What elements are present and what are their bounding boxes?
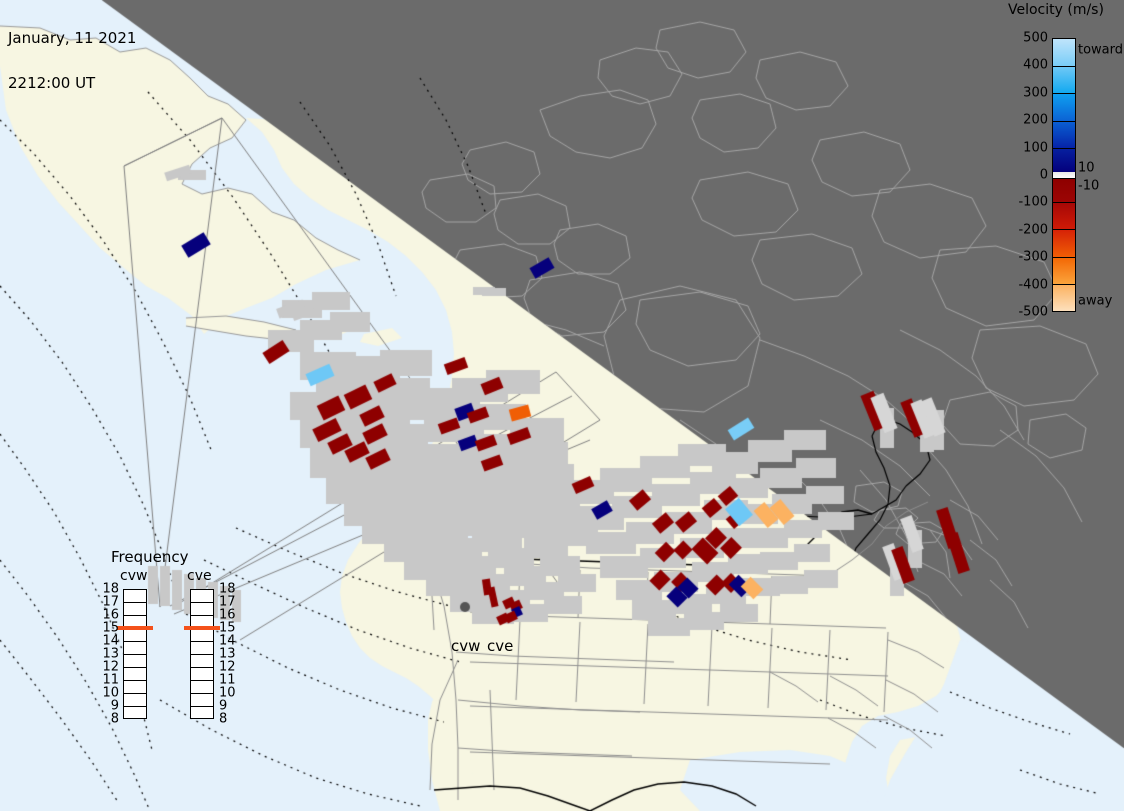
frequency-marker-cve (184, 626, 220, 630)
frequency-box-cvw (123, 589, 147, 719)
frequency-segment (124, 668, 146, 681)
colorbar-tick-label: -400 (1002, 277, 1048, 292)
frequency-segment (124, 642, 146, 655)
colorbar-tick-label: -300 (1002, 250, 1048, 265)
frequency-segment (191, 668, 213, 681)
frequency-segment (124, 694, 146, 707)
colorbar-band (1053, 66, 1075, 93)
frequency-box-cve (190, 589, 214, 719)
frequency-segment (124, 629, 146, 642)
radar-site-label-cve: cve (487, 637, 513, 655)
frequency-segment (124, 603, 146, 616)
frequency-legend: Frequency cvw18171615141312111098cve1817… (95, 548, 255, 783)
title-date: January, 11 2021 (8, 31, 136, 46)
frequency-column-title-cvw: cvw (120, 568, 147, 584)
colorbar-gradient (1052, 38, 1076, 312)
colorbar-band (1053, 39, 1075, 66)
frequency-segment (191, 590, 213, 603)
colorbar-tick-label: 400 (1002, 58, 1048, 73)
frequency-segment (191, 603, 213, 616)
colorbar-tick-label: 0 (1002, 168, 1048, 183)
superdarn-velocity-map: January, 11 2021 2212:00 UT Velocity (m/… (0, 0, 1124, 811)
frequency-segment (124, 655, 146, 668)
colorbar-band (1053, 93, 1075, 120)
colorbar-tick-label: 200 (1002, 113, 1048, 128)
title-time: 2212:00 UT (8, 76, 136, 91)
frequency-legend-title: Frequency (111, 548, 189, 566)
colorbar-title: Velocity (m/s) (1008, 2, 1104, 18)
frequency-segment (191, 681, 213, 694)
frequency-column-title-cve: cve (187, 568, 212, 584)
colorbar-tick-label: 300 (1002, 85, 1048, 100)
colorbar-band (1053, 257, 1075, 284)
colorbar-toward-label: toward (1078, 43, 1123, 58)
frequency-tick-label: 8 (97, 712, 119, 727)
colorbar-band (1053, 229, 1075, 256)
colorbar-tick-label: -200 (1002, 222, 1048, 237)
frequency-marker-cvw (117, 626, 153, 630)
velocity-colorbar: Velocity (m/s) 5004003002001000-100-200-… (1000, 0, 1124, 340)
colorbar-tick-label: -500 (1002, 305, 1048, 320)
timestamp-title: January, 11 2021 2212:00 UT (8, 1, 136, 121)
radar-site-label-cvw: cvw (451, 637, 480, 655)
frequency-segment (191, 655, 213, 668)
colorbar-inner-high-label: 10 (1078, 161, 1095, 176)
frequency-segment (124, 590, 146, 603)
frequency-segment (124, 707, 146, 720)
colorbar-tick-label: 100 (1002, 140, 1048, 155)
frequency-segment (124, 681, 146, 694)
colorbar-tick-label: -100 (1002, 195, 1048, 210)
colorbar-band (1053, 121, 1075, 148)
frequency-segment (191, 707, 213, 720)
frequency-tick-label: 8 (219, 712, 241, 727)
colorbar-band (1053, 178, 1075, 202)
colorbar-away-label: away (1078, 294, 1112, 309)
frequency-segment (191, 694, 213, 707)
frequency-segment (191, 629, 213, 642)
colorbar-band (1053, 148, 1075, 172)
colorbar-band (1053, 284, 1075, 311)
colorbar-tick-label: 500 (1002, 31, 1048, 46)
frequency-segment (191, 642, 213, 655)
colorbar-inner-low-label: -10 (1078, 178, 1099, 193)
colorbar-band (1053, 202, 1075, 229)
